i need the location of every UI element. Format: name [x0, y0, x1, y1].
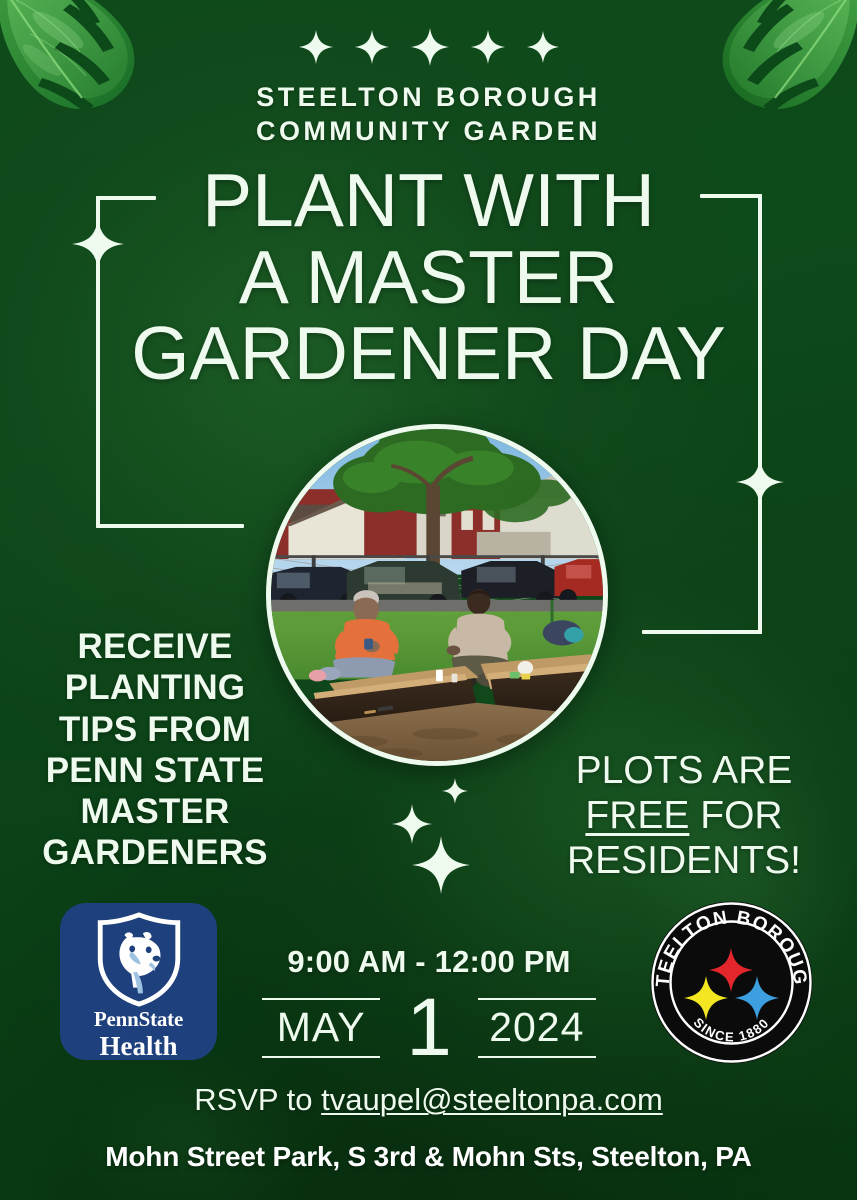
- four-point-star-icon: [299, 30, 333, 64]
- psu-wordmark-line-2: Health: [94, 1033, 183, 1060]
- event-day: 1: [400, 992, 458, 1064]
- event-month: MAY: [262, 998, 380, 1058]
- penn-state-health-wordmark: PennState Health: [94, 1009, 183, 1060]
- four-point-star-icon: [471, 30, 505, 64]
- rsvp-line: RSVP to tvaupel@steeltonpa.com: [0, 1082, 857, 1118]
- plots-free-emphasis: FREE: [585, 794, 689, 837]
- penn-state-health-logo: PennState Health: [60, 903, 217, 1060]
- rsvp-prefix: RSVP to: [194, 1082, 321, 1117]
- event-flyer: STEELTON BOROUGH COMMUNITY GARDEN PLANT …: [0, 0, 857, 1200]
- receive-line-1: RECEIVE: [0, 626, 310, 667]
- headline-line-2: A MASTER: [0, 239, 857, 316]
- org-name-line-2: COMMUNITY GARDEN: [0, 114, 857, 148]
- org-name-line-1: STEELTON BOROUGH: [0, 80, 857, 114]
- bracket-sparkle-right-icon: [736, 458, 784, 511]
- headline-line-3: GARDENER DAY: [0, 315, 857, 392]
- page-title: PLANT WITH A MASTER GARDENER DAY: [0, 162, 857, 392]
- sparkle-large-icon: [412, 836, 470, 899]
- event-time: 9:00 AM - 12:00 PM: [213, 944, 645, 980]
- garden-photo: [266, 424, 608, 766]
- sparkle-cluster: [380, 778, 490, 893]
- psu-wordmark-line-1: PennState: [94, 1009, 183, 1030]
- receive-line-6: GARDENERS: [0, 832, 310, 873]
- plots-after-free: FOR: [689, 794, 782, 837]
- free-plots-text: PLOTS ARE FREE FOR RESIDENTS!: [529, 748, 839, 884]
- steelton-borough-seal: STEELTON BOROUGH SINCE 1880: [649, 900, 814, 1065]
- four-point-star-icon: [411, 28, 449, 66]
- event-address: Mohn Street Park, S 3rd & Mohn Sts, Stee…: [0, 1141, 857, 1173]
- plots-line-3: RESIDENTS!: [529, 838, 839, 883]
- plots-line-2: FREE FOR: [529, 793, 839, 838]
- four-point-star-icon: [527, 31, 559, 63]
- four-point-star-icon: [355, 30, 389, 64]
- receive-line-2: PLANTING: [0, 667, 310, 708]
- rsvp-email-link[interactable]: tvaupel@steeltonpa.com: [321, 1082, 663, 1117]
- event-year: 2024: [478, 998, 596, 1058]
- headline-line-1: PLANT WITH: [0, 162, 857, 239]
- header-star-row: [0, 28, 857, 66]
- nittany-lion-shield-icon: [93, 912, 185, 1007]
- sparkle-small-icon: [442, 778, 468, 809]
- organization-name: STEELTON BOROUGH COMMUNITY GARDEN: [0, 80, 857, 149]
- receive-line-3: TIPS FROM: [0, 709, 310, 750]
- event-date: MAY 1 2024: [213, 990, 645, 1066]
- receive-line-4: PENN STATE: [0, 750, 310, 791]
- planting-tips-text: RECEIVE PLANTING TIPS FROM PENN STATE MA…: [0, 626, 310, 874]
- receive-line-5: MASTER: [0, 791, 310, 832]
- plots-line-1: PLOTS ARE: [529, 748, 839, 793]
